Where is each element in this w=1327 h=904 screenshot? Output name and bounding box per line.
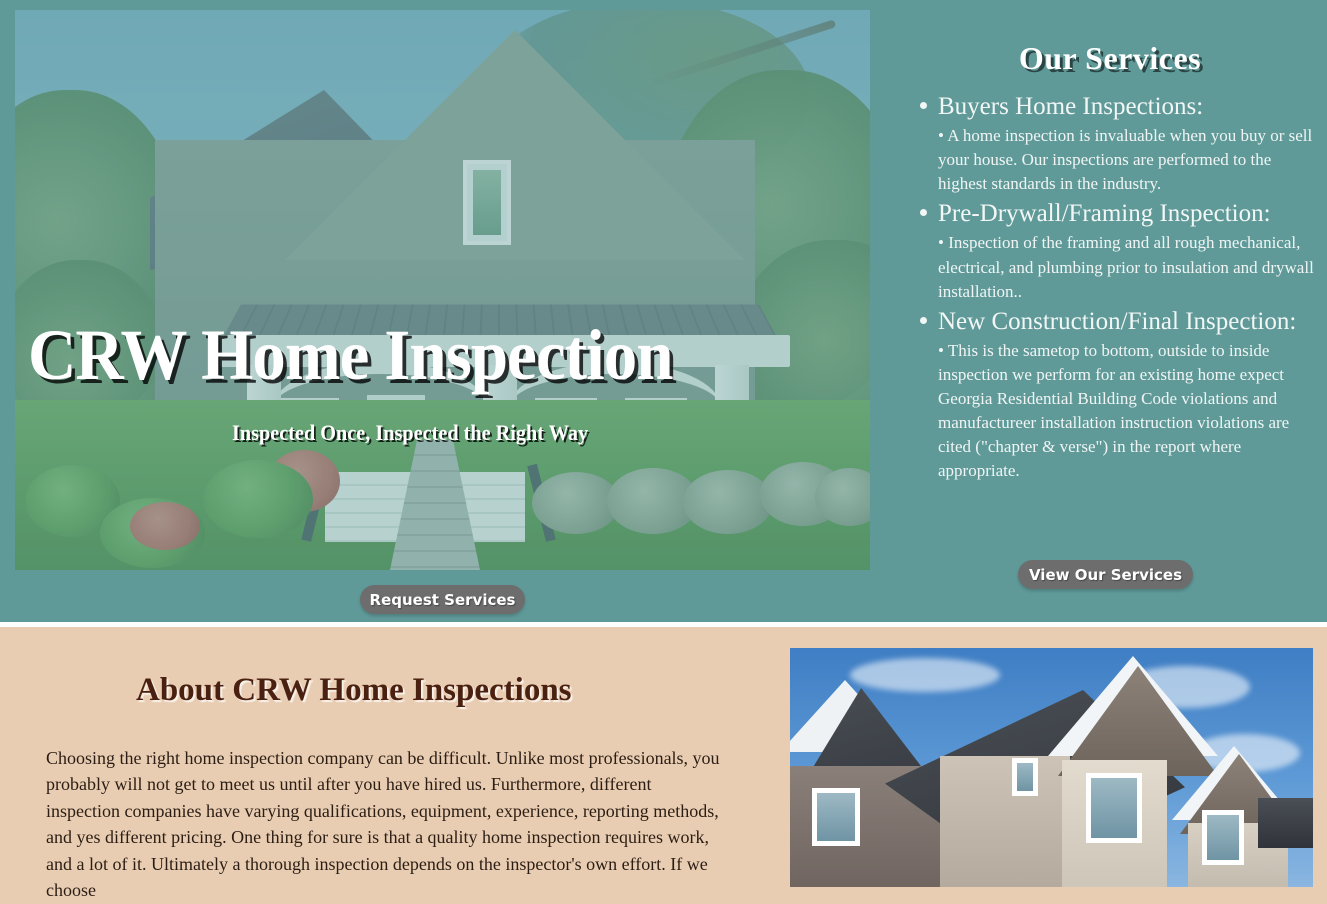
service-item: New Construction/Final Inspection: • Thi… xyxy=(900,306,1320,484)
service-heading-label: Buyers Home Inspections: xyxy=(938,93,1203,120)
about-section: About CRW Home Inspections Choosing the … xyxy=(0,627,1327,887)
hero-section: CRW Home Inspection Inspected Once, Insp… xyxy=(0,0,1327,622)
about-window-left xyxy=(812,788,860,846)
service-item: Buyers Home Inspections: • A home inspec… xyxy=(900,91,1320,196)
hero-tagline: Inspected Once, Inspected the Right Way xyxy=(232,420,588,446)
boxwood-3 xyxy=(683,470,773,534)
service-item: Pre-Drywall/Framing Inspection: • Inspec… xyxy=(900,198,1320,303)
services-list: Buyers Home Inspections: • A home inspec… xyxy=(900,91,1320,484)
service-description: • This is the sametop to bottom, outside… xyxy=(900,339,1320,484)
attic-window xyxy=(463,160,511,245)
view-our-services-button[interactable]: View Our Services xyxy=(1018,560,1193,589)
gable-shingles xyxy=(285,30,745,260)
about-window-right xyxy=(1086,773,1142,843)
request-services-button[interactable]: Request Services xyxy=(360,585,525,614)
services-title: Our Services xyxy=(900,40,1320,77)
service-description: • Inspection of the framing and all roug… xyxy=(900,231,1320,303)
about-heading: About CRW Home Inspections xyxy=(136,672,572,709)
hero-photo xyxy=(15,10,870,570)
about-photo xyxy=(790,648,1313,887)
service-heading: Buyers Home Inspections: xyxy=(900,91,1320,123)
bush-3 xyxy=(203,460,313,538)
services-panel: Our Services Buyers Home Inspections: • … xyxy=(900,40,1320,486)
service-heading: New Construction/Final Inspection: xyxy=(900,306,1320,338)
bullet-icon xyxy=(920,209,927,216)
service-heading-label: Pre-Drywall/Framing Inspection: xyxy=(938,200,1271,227)
bullet-icon xyxy=(920,102,927,109)
about-window-center xyxy=(1012,758,1038,796)
about-window-far xyxy=(1202,810,1244,865)
bullet-icon xyxy=(920,317,927,324)
about-body-text: Choosing the right home inspection compa… xyxy=(46,745,726,904)
page-title: CRW Home Inspection xyxy=(28,314,673,397)
flowering-shrub-1 xyxy=(130,502,200,550)
service-description: • A home inspection is invaluable when y… xyxy=(900,124,1320,196)
about-wall-center xyxy=(940,756,1070,887)
about-roof-far-right xyxy=(1258,798,1313,848)
service-heading: Pre-Drywall/Framing Inspection: xyxy=(900,198,1320,230)
service-heading-label: New Construction/Final Inspection: xyxy=(938,308,1296,335)
